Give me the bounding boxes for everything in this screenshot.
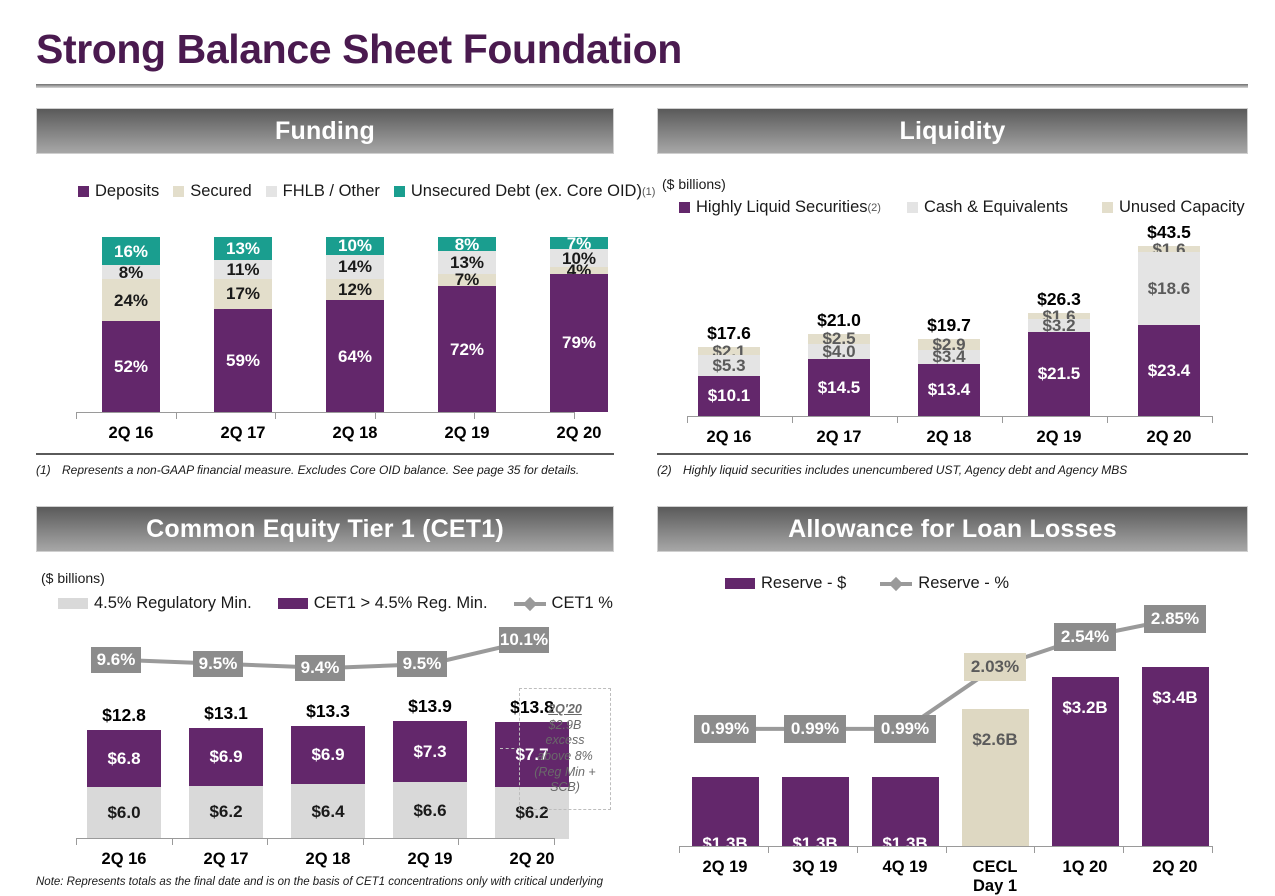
bar-segment-unsecured-debt-ex-core-oid-: 13% xyxy=(214,237,272,260)
bar-liquidity-2q20[interactable]: $1.6$18.6$23.4 xyxy=(1138,246,1200,416)
legend-swatch-icon xyxy=(266,186,277,197)
bar-liquidity-2q17[interactable]: $2.5$4.0$14.5 xyxy=(808,334,870,416)
bar-liquidity-2q16[interactable]: $2.1$5.3$10.1 xyxy=(698,347,760,416)
bar-segment-label: $21.5 xyxy=(1038,365,1081,382)
axis-label-2q-17: 2Q 17 xyxy=(193,424,293,443)
bar-segment-label: 59% xyxy=(226,352,260,369)
bar-segment-highly-liquid-securities: $23.4 xyxy=(1138,325,1200,416)
cet1-percent-label: 9.6% xyxy=(91,647,141,673)
legend-item-deposits[interactable]: Deposits xyxy=(78,182,159,201)
axis-tick xyxy=(554,838,555,845)
legend-swatch-icon xyxy=(725,578,755,589)
axis-tick xyxy=(267,838,268,845)
bar-total-label: $43.5 xyxy=(1119,222,1219,243)
bar-segment-label: 16% xyxy=(114,243,148,260)
legend-item-label: Reserve - % xyxy=(918,574,1009,593)
bar-segment-cash-&-equivalents: $4.0 xyxy=(808,344,870,360)
bar-segment-fhlb-other: 8% xyxy=(102,265,160,279)
panel-liquidity-title: Liquidity xyxy=(900,117,1006,146)
legend-footnote-marker: (1) xyxy=(642,186,655,198)
bar-funding-2q16[interactable]: 16%8%24%52% xyxy=(102,237,160,412)
bar-segment-deposits: 72% xyxy=(438,286,496,412)
bar-segment-label: $6.6 xyxy=(413,802,446,819)
callout-line: excess xyxy=(546,733,585,749)
axis-tick xyxy=(792,416,793,423)
axis-label-2q-17: 2Q 17 xyxy=(789,428,889,447)
legend-swatch-icon xyxy=(58,598,88,609)
bar-segment-unsecured-debt-ex-core-oid-: 7% xyxy=(550,237,608,249)
callout-line: (Reg Min + xyxy=(534,765,595,781)
callout-2q20-excess: 2Q'20$2.9Bexcessabove 8%(Reg Min +SCB) xyxy=(519,688,611,810)
bar-segment-4-5-regulatory-min-: $6.6 xyxy=(393,782,467,838)
bar-value-label: $1.3B xyxy=(882,835,927,852)
axis-tick xyxy=(363,838,364,845)
bar-value: $1.3B xyxy=(782,777,849,846)
axis-label-2q-20: 2Q 20 xyxy=(1125,858,1225,877)
legend-allowance: Reserve - $Reserve - % xyxy=(725,574,1009,593)
x-axis xyxy=(76,838,554,839)
allowance-percent-label: 0.99% xyxy=(694,715,756,743)
axis-tick xyxy=(1123,846,1124,853)
bar-segment-label: $6.2 xyxy=(209,803,242,820)
bar-segment-cet1-4-5-reg-min-: $6.9 xyxy=(291,726,365,784)
legend-item-label: FHLB / Other xyxy=(283,182,380,201)
bar-segment-cet1-4-5-reg-min-: $6.9 xyxy=(189,728,263,786)
bar-segment-label: 11% xyxy=(226,261,259,278)
page-title: Strong Balance Sheet Foundation xyxy=(36,26,682,73)
bar-cet1-2q18[interactable]: $6.9$6.4 xyxy=(291,726,365,838)
axis-label-2q-16: 2Q 16 xyxy=(74,850,174,869)
chart-allowance: $1.3B0.99%$1.3B0.99%$1.3B0.99%$2.6B2.03%… xyxy=(657,598,1248,868)
bar-segment-secured: 4% xyxy=(550,267,608,274)
bar-segment-unsecured-debt-ex-core-oid-: 8% xyxy=(438,237,496,251)
axis-tick xyxy=(946,846,947,853)
cet1-percent-label: 9.5% xyxy=(193,651,243,677)
legend-item-label: Deposits xyxy=(95,182,159,201)
axis-label-cecl-day-1: CECLDay 1 xyxy=(945,858,1045,896)
x-axis xyxy=(687,416,1212,417)
footnote-2: (2)Highly liquid securities includes une… xyxy=(657,463,1257,477)
cet1-units: ($ billions) xyxy=(41,570,105,586)
bar-value: $3.2B xyxy=(1052,677,1119,846)
bar-segment-label: $13.4 xyxy=(928,381,971,398)
x-axis xyxy=(76,412,574,413)
bar-segment-fhlb-other: 11% xyxy=(214,260,272,279)
bar-segment-4-5-regulatory-min-: $6.2 xyxy=(189,786,263,838)
bar-segment-label: 14% xyxy=(338,258,372,275)
footnote-divider-1 xyxy=(36,453,614,455)
legend-swatch-icon xyxy=(78,186,89,197)
footnote-1: (1)Represents a non-GAAP financial measu… xyxy=(36,463,626,477)
bar-segment-label: $6.8 xyxy=(107,750,140,767)
axis-label-2q-16: 2Q 16 xyxy=(81,424,181,443)
bar-segment-highly-liquid-securities: $13.4 xyxy=(918,364,980,416)
axis-label-2q-17: 2Q 17 xyxy=(176,850,276,869)
bar-segment-cash-&-equivalents: $5.3 xyxy=(698,355,760,376)
axis-tick xyxy=(687,416,688,423)
bar-segment-unsecured-debt-ex-core-oid-: 16% xyxy=(102,237,160,265)
bar-segment-secured: 17% xyxy=(214,279,272,309)
bar-allowance-1q20[interactable]: $3.2B xyxy=(1052,677,1119,846)
bottom-note: Note: Represents totals as the final dat… xyxy=(36,876,636,888)
bar-total-label: $19.7 xyxy=(899,315,999,336)
panel-allowance-title: Allowance for Loan Losses xyxy=(788,515,1117,544)
bar-total-label: $12.8 xyxy=(74,705,174,726)
legend-item-label: Unsecured Debt (ex. Core OID) xyxy=(411,182,642,201)
axis-label-2q-20: 2Q 20 xyxy=(482,850,582,869)
bar-segment-label: $18.6 xyxy=(1148,280,1191,297)
bar-allowance-2q19[interactable]: $1.3B xyxy=(692,777,759,846)
bar-segment-label: 72% xyxy=(450,341,484,358)
legend-swatch-icon xyxy=(394,186,405,197)
bar-segment-highly-liquid-securities: $21.5 xyxy=(1028,332,1090,416)
callout-line: SCB) xyxy=(550,780,580,796)
bar-segment-label: $6.4 xyxy=(311,803,344,820)
bar-segment-label: $6.9 xyxy=(311,746,344,763)
bar-segment-deposits: 79% xyxy=(550,274,608,412)
axis-label-2q-16: 2Q 16 xyxy=(679,428,779,447)
axis-label-2q-19: 2Q 19 xyxy=(380,850,480,869)
axis-tick xyxy=(679,846,680,853)
bar-cet1-2q16[interactable]: $6.8$6.0 xyxy=(87,730,161,838)
panel-liquidity-header: Liquidity xyxy=(657,108,1248,154)
bar-funding-2q19[interactable]: 8%13%7%72% xyxy=(438,237,496,412)
bar-value: $1.3B xyxy=(872,777,939,846)
callout-line: above 8% xyxy=(537,749,593,765)
axis-label-2q-18: 2Q 18 xyxy=(278,850,378,869)
title-divider xyxy=(36,84,1248,88)
footnote-2-marker: (2) xyxy=(657,463,683,477)
bar-allowance-ceclday1[interactable]: $2.6B xyxy=(962,709,1029,846)
bar-segment-deposits: 52% xyxy=(102,321,160,412)
bar-segment-label: 12% xyxy=(338,281,372,298)
axis-label-2q-19: 2Q 19 xyxy=(675,858,775,877)
axis-label-4q-19: 4Q 19 xyxy=(855,858,955,877)
bar-segment-label: $6.9 xyxy=(209,748,242,765)
bar-total-label: $13.9 xyxy=(380,696,480,717)
panel-funding: Funding DepositsSecuredFHLB / OtherUnsec… xyxy=(36,108,614,478)
bar-segment-label: 8% xyxy=(455,236,480,253)
bar-cet1-2q17[interactable]: $6.9$6.2 xyxy=(189,728,263,838)
bar-segment-cet1-4-5-reg-min-: $7.3 xyxy=(393,721,467,783)
legend-item-reserve[interactable]: Reserve - $ xyxy=(725,574,846,593)
allowance-percent-label: 0.99% xyxy=(784,715,846,743)
axis-tick xyxy=(1212,846,1213,853)
axis-tick xyxy=(458,838,459,845)
bar-segment-deposits: 64% xyxy=(326,300,384,412)
callout-leader-line xyxy=(500,748,520,749)
bar-allowance-3q19[interactable]: $1.3B xyxy=(782,777,849,846)
bar-allowance-2q20[interactable]: $3.4B xyxy=(1142,667,1209,846)
axis-tick xyxy=(1034,846,1035,853)
bar-segment-label: 24% xyxy=(114,292,148,309)
axis-tick xyxy=(172,838,173,845)
panel-cet1-title: Common Equity Tier 1 (CET1) xyxy=(146,515,504,544)
bar-allowance-4q19[interactable]: $1.3B xyxy=(872,777,939,846)
bar-segment-4-5-regulatory-min-: $6.4 xyxy=(291,784,365,838)
bar-funding-2q20[interactable]: 7%10%4%79% xyxy=(550,237,608,412)
bar-value-label: $2.6B xyxy=(972,731,1017,748)
bar-segment-secured: 24% xyxy=(102,279,160,321)
axis-label-1q-20: 1Q 20 xyxy=(1035,858,1135,877)
bar-segment-label: $7.3 xyxy=(413,743,446,760)
bar-segment-label: 13% xyxy=(450,254,484,271)
bar-value: $3.4B xyxy=(1142,667,1209,846)
bar-value: $2.6B xyxy=(962,709,1029,846)
bar-segment-label: 52% xyxy=(114,358,148,375)
bar-segment-label: 8% xyxy=(119,264,144,281)
bar-value-label: $3.2B xyxy=(1062,699,1107,716)
bar-funding-2q18[interactable]: 10%14%12%64% xyxy=(326,237,384,412)
legend-item-label: Secured xyxy=(190,182,251,201)
callout-title: 2Q'20 xyxy=(548,702,582,718)
liquidity-units: ($ billions) xyxy=(662,176,726,192)
legend-item-reserve[interactable]: Reserve - % xyxy=(880,574,1009,593)
bar-value-label: $1.3B xyxy=(702,835,747,852)
bar-segment-label: 64% xyxy=(338,348,372,365)
bar-segment-label: $4.0 xyxy=(822,343,855,360)
legend-swatch-icon xyxy=(173,186,184,197)
cet1-percent-label: 10.1% xyxy=(499,627,549,653)
bar-segment-label: 17% xyxy=(226,285,260,302)
axis-tick xyxy=(1107,416,1108,423)
panel-funding-header: Funding xyxy=(36,108,614,154)
cet1-percent-label: 9.4% xyxy=(295,655,345,681)
bar-total-label: $26.3 xyxy=(1009,289,1109,310)
axis-label-2q-20: 2Q 20 xyxy=(1119,428,1219,447)
axis-tick xyxy=(574,412,575,419)
bar-segment-secured: 7% xyxy=(438,274,496,286)
bar-liquidity-2q19[interactable]: $1.6$3.2$21.5 xyxy=(1028,313,1090,416)
legend-swatch-icon xyxy=(278,598,308,609)
callout-line: $2.9B xyxy=(549,718,582,734)
bar-cet1-2q19[interactable]: $7.3$6.6 xyxy=(393,721,467,838)
allowance-percent-label: 2.03% xyxy=(964,653,1026,681)
panel-allowance: Allowance for Loan Losses Reserve - $Res… xyxy=(657,506,1248,876)
chart-liquidity: $2.1$5.3$10.1$17.6$2.5$4.0$14.5$21.0$2.9… xyxy=(657,212,1248,442)
legend-item-fhlb-other[interactable]: FHLB / Other xyxy=(266,182,380,201)
axis-label-2q-18: 2Q 18 xyxy=(305,424,405,443)
panel-allowance-header: Allowance for Loan Losses xyxy=(657,506,1248,552)
bar-segment-4-5-regulatory-min-: $6.0 xyxy=(87,787,161,838)
legend-swatch-icon xyxy=(880,582,912,586)
bar-segment-cash-&-equivalents: $18.6 xyxy=(1138,252,1200,325)
axis-tick xyxy=(76,838,77,845)
bar-segment-label: $10.1 xyxy=(708,387,751,404)
bar-total-label: $17.6 xyxy=(679,323,779,344)
bar-segment-deposits: 59% xyxy=(214,309,272,412)
bar-segment-label: 13% xyxy=(226,240,260,257)
bar-value-label: $3.4B xyxy=(1152,689,1197,706)
panel-liquidity: Liquidity ($ billions) Highly Liquid Sec… xyxy=(657,108,1248,478)
bar-value-label: $1.3B xyxy=(792,835,837,852)
footnote-1-text: Represents a non-GAAP financial measure.… xyxy=(62,463,579,477)
bar-segment-label: $14.5 xyxy=(818,379,861,396)
axis-tick xyxy=(897,416,898,423)
bar-segment-label: $5.3 xyxy=(712,357,745,374)
allowance-percent-label: 2.54% xyxy=(1054,623,1116,651)
bar-segment-highly-liquid-securities: $14.5 xyxy=(808,359,870,416)
chart-funding: 16%8%24%52%13%11%17%59%10%14%12%64%8%13%… xyxy=(36,212,614,442)
panel-cet1-header: Common Equity Tier 1 (CET1) xyxy=(36,506,614,552)
axis-tick xyxy=(857,846,858,853)
legend-funding: DepositsSecuredFHLB / OtherUnsecured Deb… xyxy=(78,182,655,201)
bar-funding-2q17[interactable]: 13%11%17%59% xyxy=(214,237,272,412)
axis-label-2q-19: 2Q 19 xyxy=(417,424,517,443)
bar-segment-cash-&-equivalents: $3.2 xyxy=(1028,319,1090,332)
bar-segment-label: $23.4 xyxy=(1148,362,1191,379)
cet1-percent-label: 9.5% xyxy=(397,651,447,677)
axis-label-3q-19: 3Q 19 xyxy=(765,858,865,877)
axis-tick xyxy=(1002,416,1003,423)
footnote-2-text: Highly liquid securities includes unencu… xyxy=(683,463,1127,477)
bar-liquidity-2q18[interactable]: $2.9$3.4$13.4 xyxy=(918,339,980,416)
axis-tick xyxy=(474,412,475,419)
bar-segment-unused-capacity: $2.1 xyxy=(698,347,760,355)
allowance-percent-label: 0.99% xyxy=(874,715,936,743)
legend-item-secured[interactable]: Secured xyxy=(173,182,251,201)
bar-segment-cash-&-equivalents: $3.4 xyxy=(918,350,980,363)
bar-segment-label: 10% xyxy=(338,237,372,254)
bar-segment-fhlb-other: 14% xyxy=(326,255,384,280)
axis-tick xyxy=(375,412,376,419)
axis-tick xyxy=(1212,416,1213,423)
axis-label-2q-20: 2Q 20 xyxy=(529,424,629,443)
footnote-1-marker: (1) xyxy=(36,463,62,477)
axis-label-2q-18: 2Q 18 xyxy=(899,428,999,447)
bar-segment-highly-liquid-securities: $10.1 xyxy=(698,376,760,415)
bar-segment-label: 79% xyxy=(562,334,596,351)
axis-tick xyxy=(768,846,769,853)
bar-segment-secured: 12% xyxy=(326,279,384,300)
legend-item-unsecured-debt-ex-core-oid[interactable]: Unsecured Debt (ex. Core OID)(1) xyxy=(394,182,656,201)
axis-label-2q-19: 2Q 19 xyxy=(1009,428,1109,447)
legend-item-label: Reserve - $ xyxy=(761,574,846,593)
axis-tick xyxy=(275,412,276,419)
legend-swatch-icon xyxy=(514,602,546,606)
bar-segment-label: $6.0 xyxy=(107,804,140,821)
bar-total-label: $13.1 xyxy=(176,703,276,724)
bar-segment-unsecured-debt-ex-core-oid-: 10% xyxy=(326,237,384,255)
axis-tick xyxy=(176,412,177,419)
axis-tick xyxy=(76,412,77,419)
footnote-divider-2 xyxy=(657,453,1248,455)
allowance-percent-label: 2.85% xyxy=(1144,605,1206,633)
bar-total-label: $21.0 xyxy=(789,310,889,331)
bar-total-label: $13.3 xyxy=(278,701,378,722)
bar-segment-cet1-4-5-reg-min-: $6.8 xyxy=(87,730,161,787)
bar-value: $1.3B xyxy=(692,777,759,846)
panel-funding-title: Funding xyxy=(275,117,375,146)
